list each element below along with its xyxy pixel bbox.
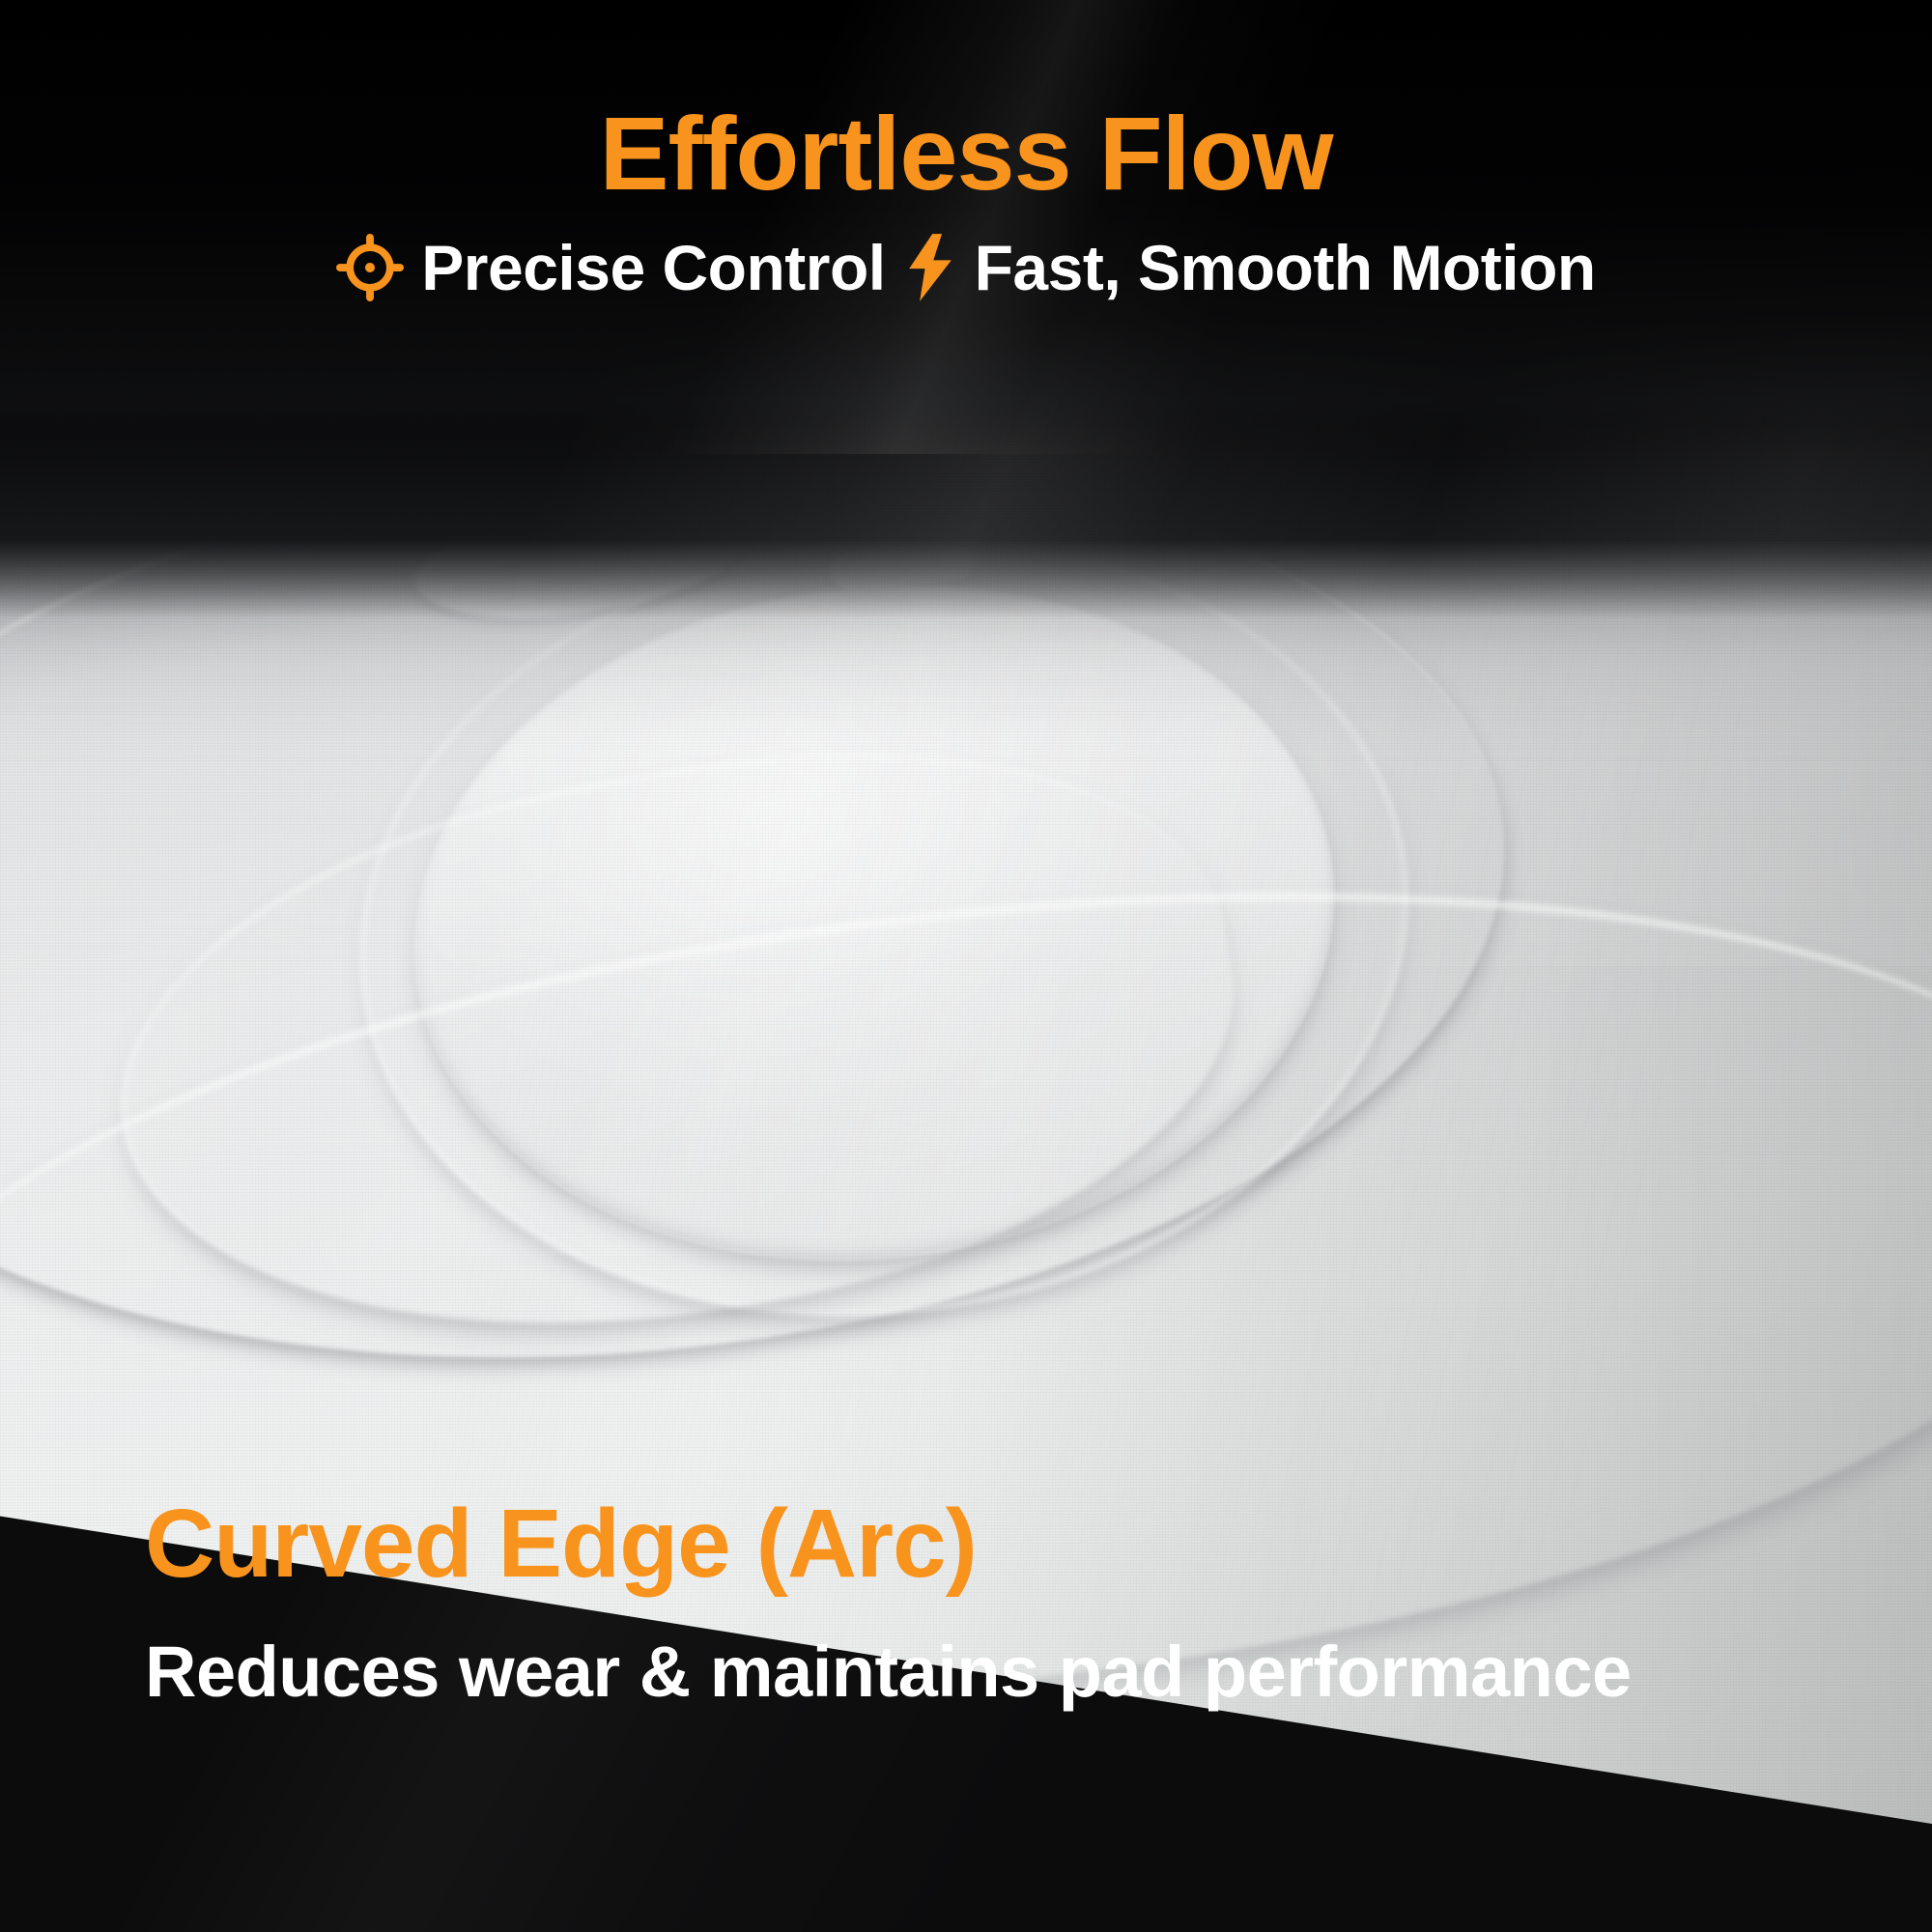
marketing-banner: Effortless Flow Precise Control Fast, [0,0,1932,1932]
feature-label-fast-smooth-motion: Fast, Smooth Motion [975,231,1596,304]
feature-list: Precise Control Fast, Smooth Motion [0,231,1932,304]
footer-headline: Curved Edge (Arc) [145,1495,1787,1592]
feature-label-precise-control: Precise Control [421,231,885,304]
footer-subheadline: Reduces wear & maintains pad performance [145,1592,1787,1932]
footer-text-block: Curved Edge (Arc) Reduces wear & maintai… [145,1495,1787,1932]
page-title: Effortless Flow [0,0,1932,206]
target-crosshair-icon [336,234,404,301]
header-text-block: Effortless Flow Precise Control Fast, [0,0,1932,304]
lightning-bolt-icon [903,234,957,301]
